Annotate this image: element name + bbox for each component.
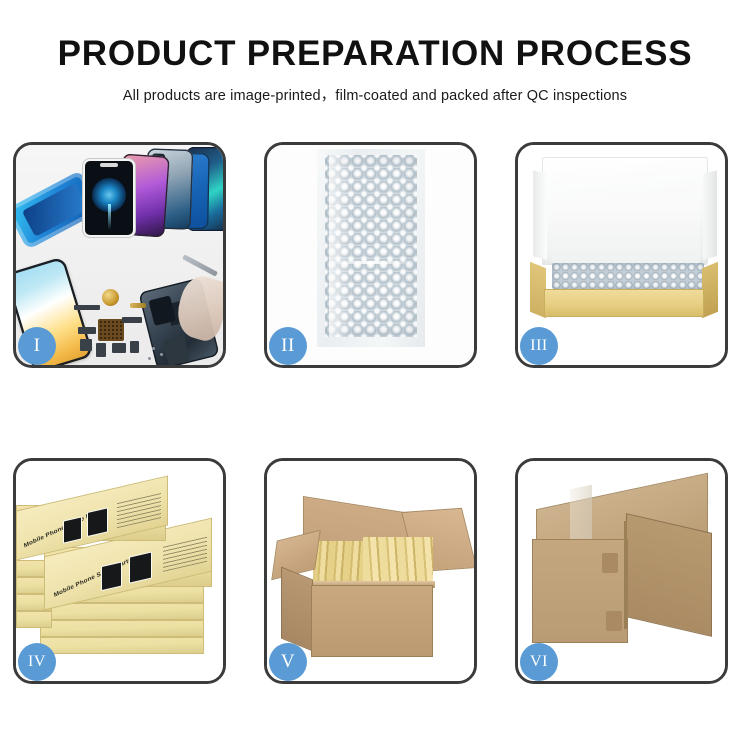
gold-connector-part xyxy=(130,303,146,308)
carton-hand-hole-top xyxy=(602,553,618,573)
retail-box-row-5 xyxy=(40,637,204,654)
button-flex-part xyxy=(122,317,142,323)
step-numeral-4: IV xyxy=(28,653,46,671)
steps-grid: I II xyxy=(13,142,737,684)
step-panel-1: I xyxy=(13,142,226,368)
tweezers-tool xyxy=(182,254,218,276)
page-subtitle: All products are image-printed，film-coat… xyxy=(0,84,750,105)
retail-box-row-4 xyxy=(40,620,204,637)
header: PRODUCT PREPARATION PROCESS All products… xyxy=(0,0,750,105)
sealed-carton-edge xyxy=(624,521,627,629)
sim-tray-part xyxy=(96,343,106,357)
page-title: PRODUCT PREPARATION PROCESS xyxy=(0,36,750,73)
vibrator-part xyxy=(80,339,92,351)
step-badge-3: III xyxy=(520,327,558,365)
step-badge-6: VI xyxy=(520,643,558,681)
screw-part-2 xyxy=(160,353,163,356)
screen-glass-panel xyxy=(83,159,135,237)
foam-insert xyxy=(552,197,700,263)
step-numeral-1: I xyxy=(34,335,41,357)
step-badge-2: II xyxy=(269,327,307,365)
speaker-module-part xyxy=(102,289,119,306)
carton-contents-back-row xyxy=(363,537,433,581)
sealed-carton-right-side xyxy=(626,513,712,637)
lid-window-1b xyxy=(87,507,108,537)
ic-chip-part xyxy=(98,319,124,341)
battery-connector-part xyxy=(112,343,126,353)
spare-parts-cluster xyxy=(74,287,194,365)
bubble-wrap-highlight xyxy=(329,155,351,337)
carton-front-panel xyxy=(311,585,433,657)
bubble-wrap-texture xyxy=(325,155,417,337)
step-badge-1: I xyxy=(18,327,56,365)
carton-hand-hole-bottom xyxy=(606,611,622,631)
earpiece-part xyxy=(130,341,139,353)
lid-spec-lines-1 xyxy=(117,492,161,528)
step-numeral-5: V xyxy=(281,651,295,673)
lid-window-1a xyxy=(63,516,82,543)
retail-box-left-4 xyxy=(16,611,52,628)
box-front-panel xyxy=(544,289,704,317)
step-numeral-2: II xyxy=(281,335,295,357)
screw-part-3 xyxy=(148,357,151,360)
step-badge-4: IV xyxy=(18,643,56,681)
step-badge-5: V xyxy=(269,643,307,681)
step-numeral-3: III xyxy=(530,337,547,355)
step-panel-4: Mobile Phone Spare Parts Mobile Phone Sp… xyxy=(13,458,226,684)
product-preparation-infographic: PRODUCT PREPARATION PROCESS All products… xyxy=(0,0,750,750)
box-right-side xyxy=(702,262,718,318)
camera-module-part xyxy=(78,327,96,334)
step-numeral-6: VI xyxy=(530,653,548,671)
bubble-wrapped-product xyxy=(552,263,704,289)
step-panel-2: II xyxy=(264,142,477,368)
step-panel-3: III xyxy=(515,142,728,368)
step-panel-5: V xyxy=(264,458,477,684)
carton-left-side xyxy=(281,567,313,652)
flex-cable-part xyxy=(74,305,100,310)
screw-part-1 xyxy=(152,347,155,350)
phone-notch xyxy=(100,163,118,167)
lid-spec-lines-2 xyxy=(163,536,207,572)
lid-window-2a xyxy=(101,561,122,591)
lid-window-2b xyxy=(129,551,152,583)
step-panel-6: VI xyxy=(515,458,728,684)
